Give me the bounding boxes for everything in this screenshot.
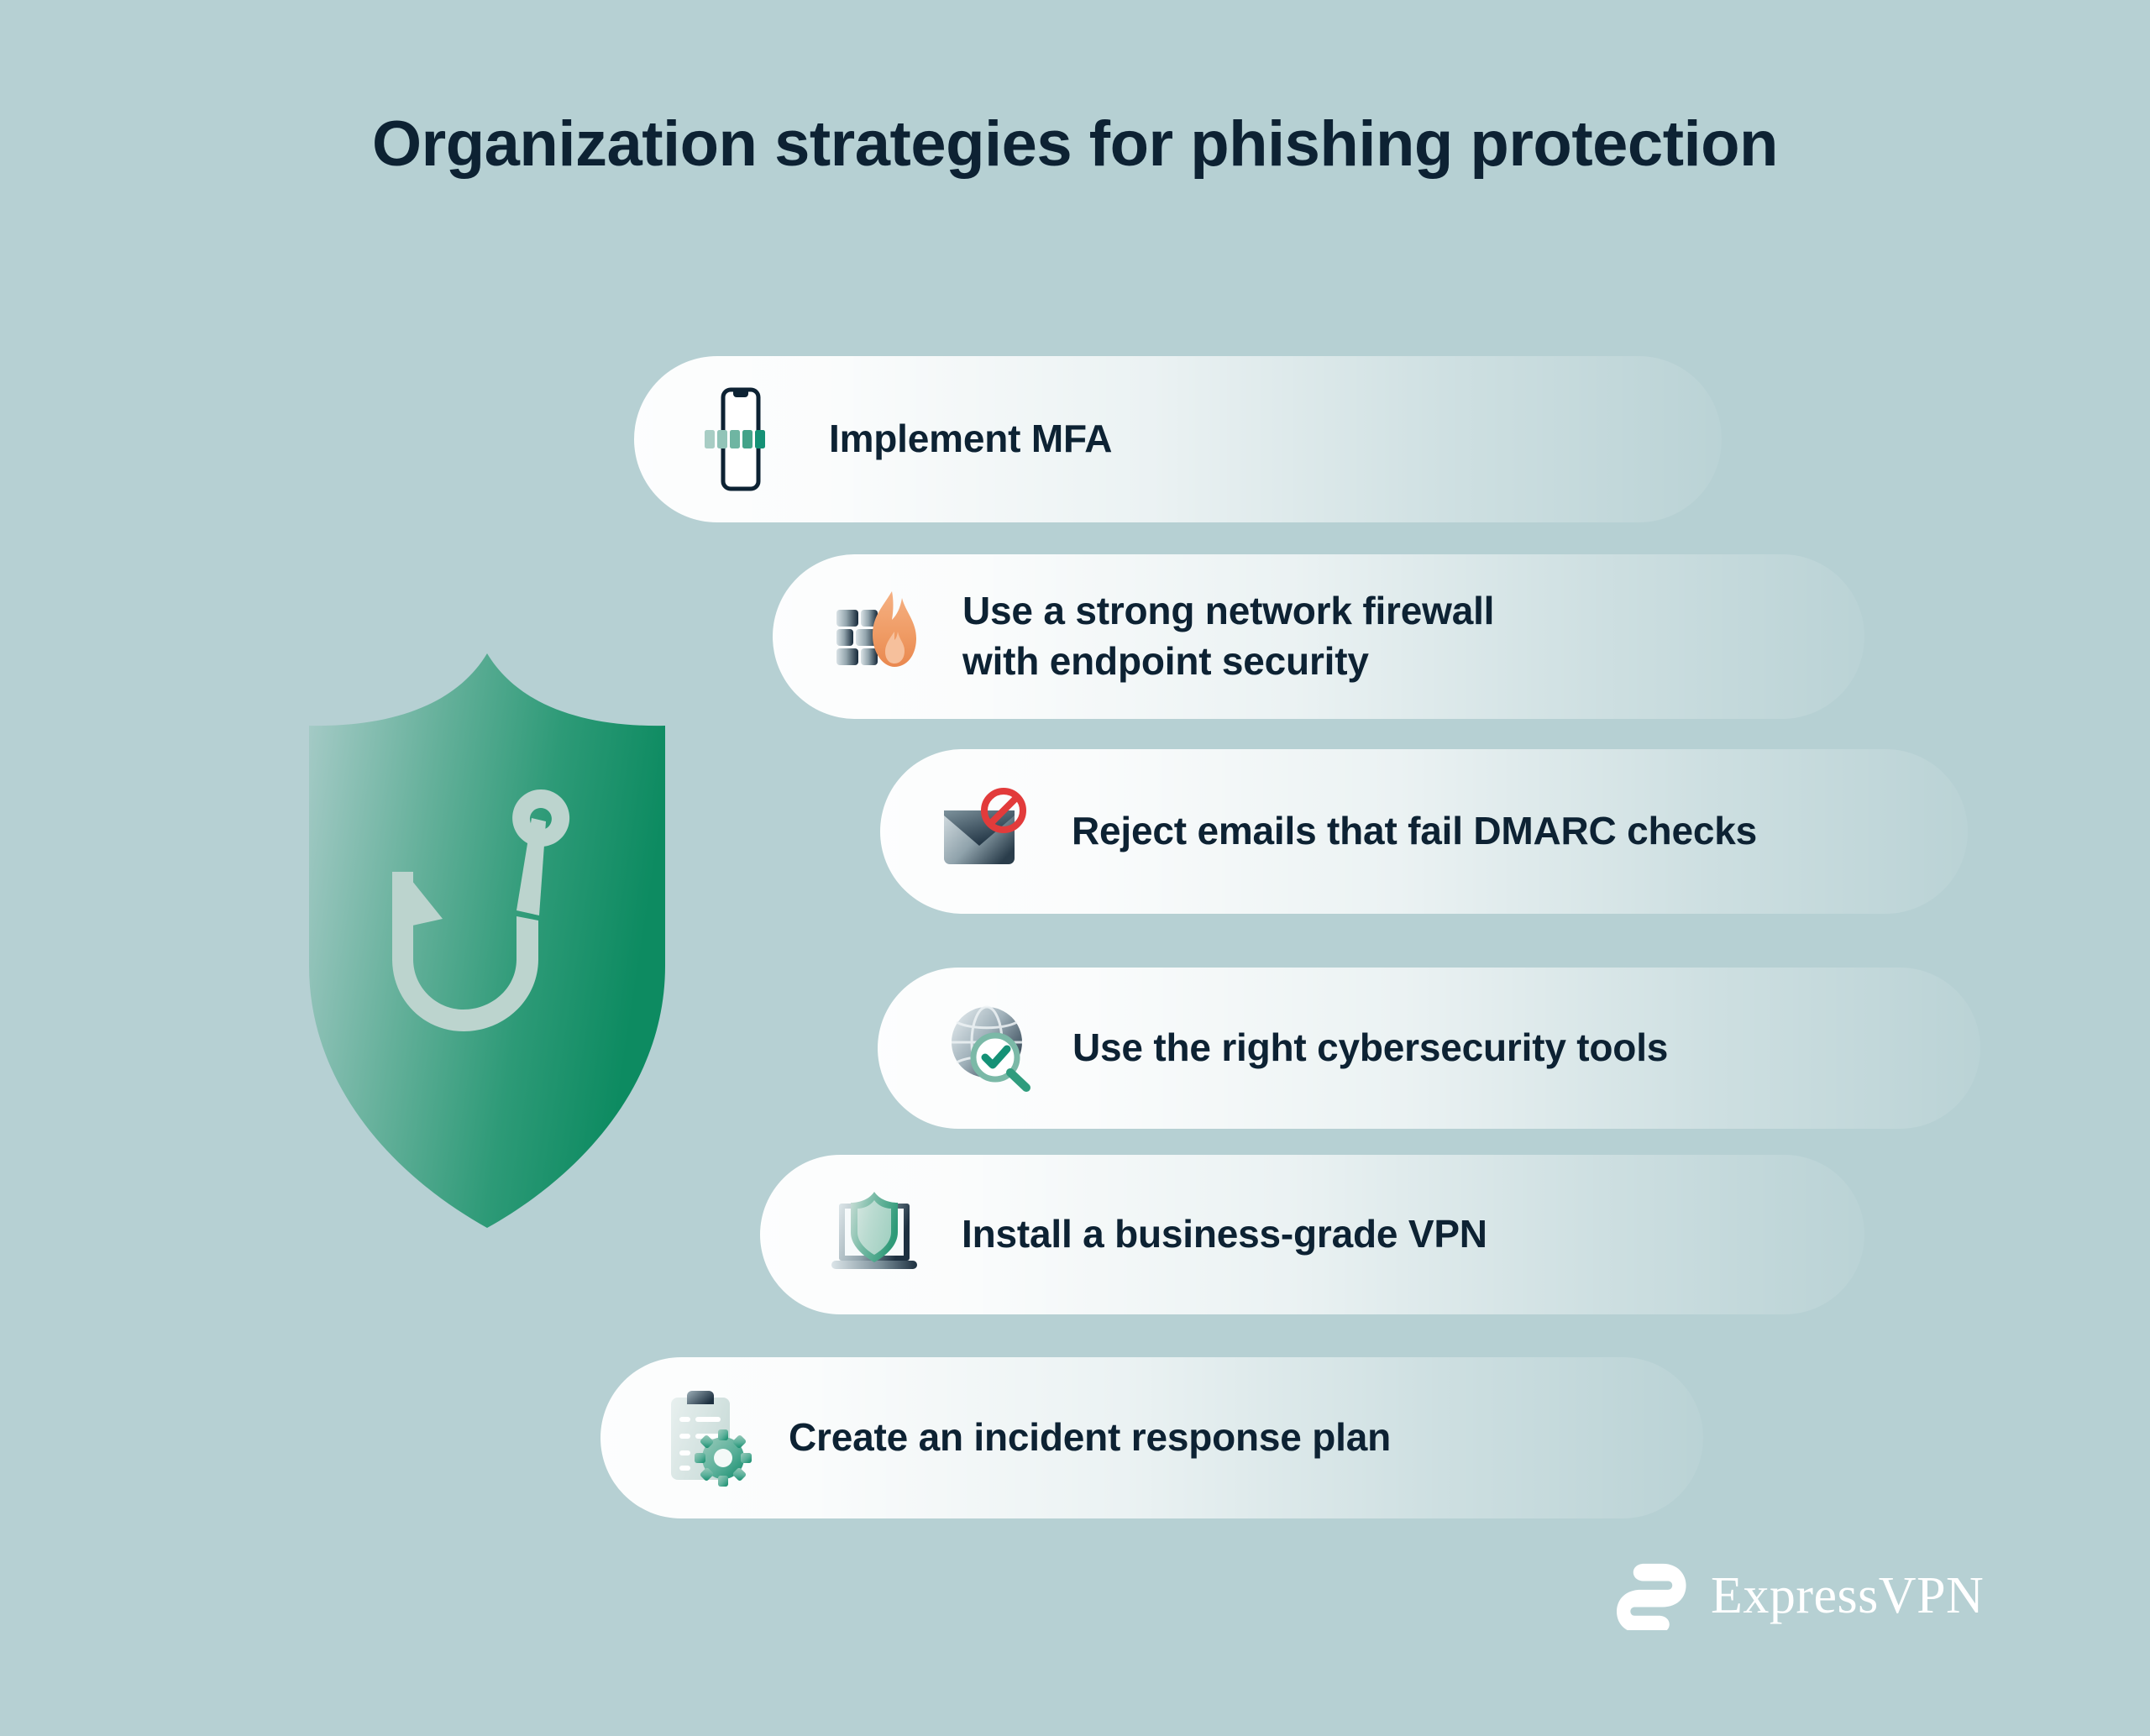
strategy-pill-cyber-tools[interactable]: Use the right cybersecurity tools — [878, 968, 1980, 1129]
strategy-pill-dmarc[interactable]: Reject emails that fail DMARC checks — [880, 749, 1968, 914]
page-title: Organization strategies for phishing pro… — [0, 108, 2150, 181]
strategy-label: Create an incident response plan — [789, 1413, 1391, 1463]
strategy-label: Implement MFA — [829, 414, 1112, 464]
brand-logo: ExpressVPN — [1617, 1558, 1984, 1634]
shield-with-fish-hook-icon — [252, 647, 722, 1235]
brand-name: ExpressVPN — [1711, 1566, 1984, 1626]
strategy-pill-firewall[interactable]: Use a strong network firewall with endpo… — [773, 554, 1864, 719]
strategy-label: Install a business-grade VPN — [962, 1209, 1487, 1260]
strategy-pill-mfa[interactable]: Implement MFA — [634, 356, 1722, 522]
expressvpn-e-logo-icon — [1617, 1558, 1689, 1634]
email-blocked-icon — [939, 782, 1038, 881]
globe-magnifier-check-icon — [943, 999, 1042, 1098]
strategy-pill-vpn[interactable]: Install a business-grade VPN — [760, 1155, 1864, 1314]
strategy-label: Use the right cybersecurity tools — [1072, 1023, 1668, 1073]
strategy-pill-incident-plan[interactable]: Create an incident response plan — [600, 1357, 1703, 1518]
infographic-canvas: Organization strategies for phishing pro… — [0, 0, 2150, 1736]
laptop-shield-icon — [827, 1188, 928, 1281]
strategy-label: Reject emails that fail DMARC checks — [1072, 806, 1757, 857]
clipboard-gear-icon — [666, 1386, 760, 1490]
phone-mfa-icon — [701, 385, 779, 494]
firewall-brick-flame-icon — [833, 586, 926, 687]
strategy-label: Use a strong network firewall with endpo… — [962, 586, 1494, 687]
